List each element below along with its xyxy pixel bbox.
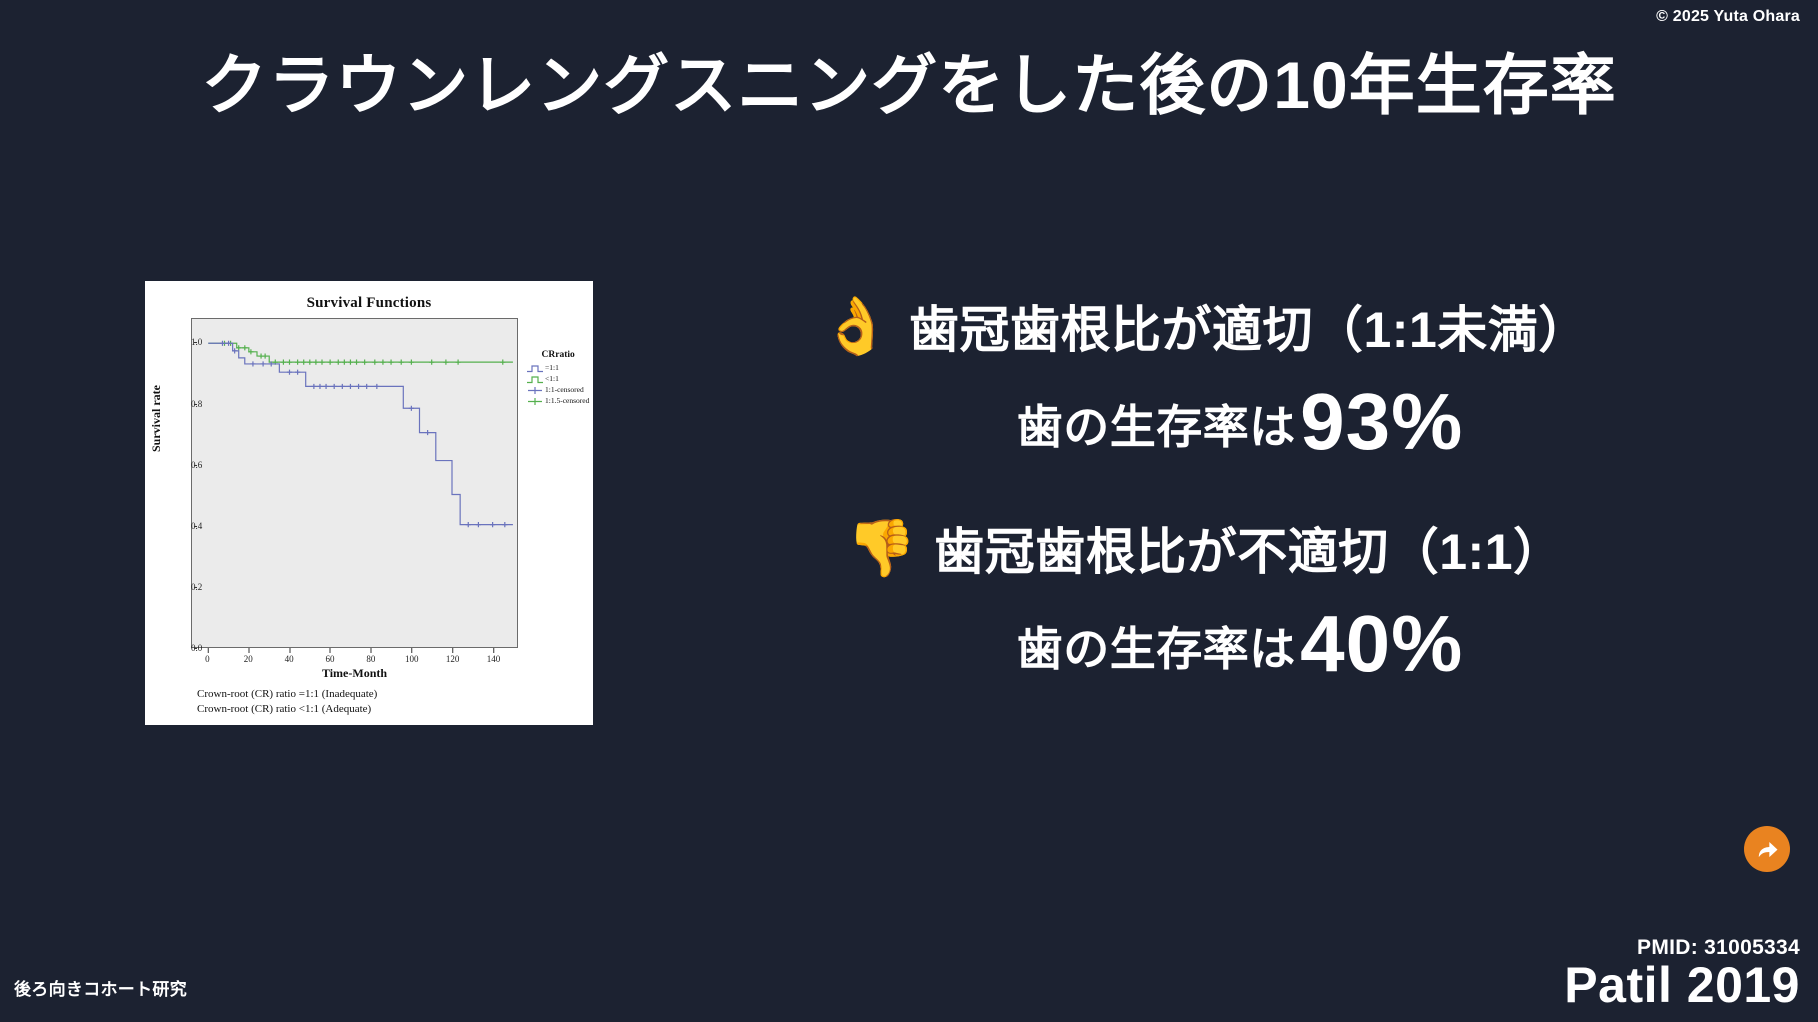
finding-survival-line: 歯の生存率は 93% bbox=[600, 376, 1810, 468]
censor-mark bbox=[287, 370, 292, 375]
censor-mark bbox=[348, 384, 353, 389]
findings-list: 👌 歯冠歯根比が適切（1:1未満） 歯の生存率は 93% 👎 歯冠歯根比が不適切… bbox=[600, 290, 1810, 734]
censor-mark bbox=[409, 360, 414, 365]
chart-y-tick: 0.0 bbox=[191, 643, 194, 653]
censor-mark bbox=[342, 360, 347, 365]
finding-survival-lead: 歯の生存率は bbox=[1017, 623, 1296, 675]
page-title: クラウンレングスニングをした後の10年生存率 bbox=[0, 48, 1818, 124]
chart-caption: Crown-root (CR) ratio =1:1 (Inadequate) … bbox=[197, 687, 377, 717]
finding-survival-value: 40% bbox=[1300, 599, 1463, 688]
chart-legend: CRratio =1:1<1:11:1-censored1:1.5-censor… bbox=[527, 350, 589, 407]
censor-mark bbox=[399, 360, 404, 365]
censor-mark bbox=[443, 360, 448, 365]
chart-y-tick: 0.8 bbox=[191, 399, 194, 409]
slide: © 2025 Yuta Ohara クラウンレングスニングをした後の10年生存率… bbox=[0, 0, 1818, 1022]
censor-mark bbox=[429, 360, 434, 365]
survival-curve bbox=[208, 343, 513, 524]
censor-mark bbox=[348, 360, 353, 365]
censor-mark bbox=[336, 360, 341, 365]
censor-mark bbox=[287, 360, 292, 365]
censor-mark bbox=[476, 522, 481, 527]
chart-x-tick: 100 bbox=[405, 654, 419, 664]
chart-y-tick: 0.2 bbox=[191, 582, 194, 592]
censor-mark bbox=[328, 360, 333, 365]
chart-caption-line-1: Crown-root (CR) ratio =1:1 (Inadequate) bbox=[197, 687, 377, 702]
copyright-notice: © 2025 Yuta Ohara bbox=[1656, 8, 1800, 26]
censor-mark bbox=[380, 360, 385, 365]
survival-curve bbox=[208, 343, 513, 362]
censor-mark bbox=[317, 384, 322, 389]
censor-mark bbox=[500, 360, 505, 365]
survival-curves-svg bbox=[192, 319, 517, 647]
censor-mark bbox=[425, 430, 430, 435]
legend-label: 1:1.5-censored bbox=[545, 396, 589, 407]
legend-label: =1:1 bbox=[545, 363, 559, 374]
finding-adequate: 👌 歯冠歯根比が適切（1:1未満） 歯の生存率は 93% bbox=[600, 290, 1810, 468]
legend-swatch bbox=[527, 364, 543, 373]
finding-headline-row: 👎 歯冠歯根比が不適切（1:1） bbox=[600, 512, 1810, 584]
thumbs-down-icon: 👎 bbox=[847, 520, 917, 576]
censor-mark bbox=[263, 353, 268, 358]
censor-mark bbox=[364, 384, 369, 389]
legend-swatch bbox=[527, 397, 543, 406]
censor-mark bbox=[261, 361, 266, 366]
censor-mark bbox=[242, 345, 247, 350]
censor-mark bbox=[409, 406, 414, 411]
study-type-label: 後ろ向きコホート研究 bbox=[14, 975, 187, 1000]
chart-x-tick: 80 bbox=[366, 654, 375, 664]
legend-label: 1:1-censored bbox=[545, 385, 584, 396]
finding-survival-line: 歯の生存率は 40% bbox=[600, 598, 1810, 690]
censor-mark bbox=[323, 384, 328, 389]
censor-mark bbox=[301, 360, 306, 365]
chart-x-tick: 0 bbox=[205, 654, 210, 664]
chart-y-axis-label: Survival rate bbox=[149, 385, 164, 452]
censor-mark bbox=[295, 360, 300, 365]
chart-title: Survival Functions bbox=[151, 295, 587, 312]
censor-mark bbox=[372, 360, 377, 365]
citation-label: Patil 2019 bbox=[1564, 956, 1800, 1014]
legend-swatch bbox=[527, 386, 543, 395]
censor-mark bbox=[340, 384, 345, 389]
finding-inadequate: 👎 歯冠歯根比が不適切（1:1） 歯の生存率は 40% bbox=[600, 512, 1810, 690]
chart-plot-wrapper: Survival rate 0.00.20.40.60.81.0 0204060… bbox=[151, 314, 587, 689]
legend-item: 1:1-censored bbox=[527, 385, 589, 396]
censor-mark bbox=[388, 360, 393, 365]
legend-swatch bbox=[527, 375, 543, 384]
legend-title: CRratio bbox=[527, 350, 589, 360]
chart-y-tick: 0.6 bbox=[191, 460, 194, 470]
chart-x-tick: 40 bbox=[285, 654, 294, 664]
censor-mark bbox=[250, 361, 255, 366]
chart-plot-area bbox=[191, 318, 518, 648]
legend-item: 1:1.5-censored bbox=[527, 396, 589, 407]
finding-headline-row: 👌 歯冠歯根比が適切（1:1未満） bbox=[600, 290, 1810, 362]
chart-x-tick: 120 bbox=[446, 654, 460, 664]
censor-mark bbox=[295, 370, 300, 375]
chart-y-tick: 0.4 bbox=[191, 521, 194, 531]
finding-survival-value: 93% bbox=[1300, 377, 1463, 466]
censor-mark bbox=[281, 360, 286, 365]
censor-mark bbox=[307, 360, 312, 365]
censor-mark bbox=[319, 360, 324, 365]
chart-x-tick: 60 bbox=[325, 654, 334, 664]
ok-hand-icon: 👌 bbox=[821, 298, 891, 354]
censor-mark bbox=[502, 522, 507, 527]
chart-x-tick: 20 bbox=[244, 654, 253, 664]
chart-x-tick: 140 bbox=[487, 654, 501, 664]
censor-mark bbox=[466, 522, 471, 527]
censor-mark bbox=[374, 384, 379, 389]
chart-x-axis-label: Time-Month bbox=[191, 666, 518, 681]
survival-chart-card: Survival Functions Survival rate 0.00.20… bbox=[145, 281, 593, 725]
censor-mark bbox=[311, 384, 316, 389]
share-arrow-icon[interactable] bbox=[1744, 826, 1790, 872]
legend-item: =1:1 bbox=[527, 363, 589, 374]
finding-headline: 歯冠歯根比が適切（1:1未満） bbox=[909, 290, 1589, 362]
censor-mark bbox=[354, 360, 359, 365]
censor-mark bbox=[362, 360, 367, 365]
finding-survival-lead: 歯の生存率は bbox=[1017, 401, 1296, 453]
chart-caption-line-2: Crown-root (CR) ratio <1:1 (Adequate) bbox=[197, 702, 377, 717]
legend-item: <1:1 bbox=[527, 374, 589, 385]
finding-headline: 歯冠歯根比が不適切（1:1） bbox=[934, 512, 1563, 584]
censor-mark bbox=[356, 384, 361, 389]
censor-mark bbox=[313, 360, 318, 365]
censor-mark bbox=[456, 360, 461, 365]
legend-label: <1:1 bbox=[545, 374, 559, 385]
censor-mark bbox=[332, 384, 337, 389]
censor-mark bbox=[490, 522, 495, 527]
chart-y-tick: 1.0 bbox=[191, 337, 194, 347]
